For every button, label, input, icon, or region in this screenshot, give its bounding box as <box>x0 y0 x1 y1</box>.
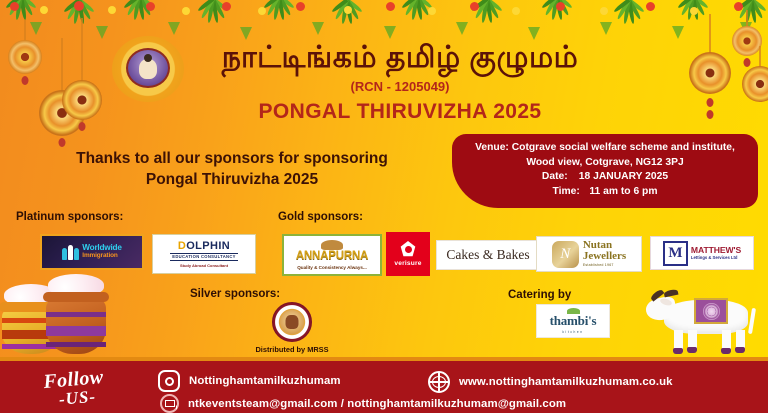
sponsor-logo-mrss: Distributed by MRSS <box>252 302 332 354</box>
annapurna-wordmark: ANNAPURNA <box>296 251 368 263</box>
mango-leaf-icon <box>196 0 230 27</box>
bunting-triangle <box>168 22 180 35</box>
gold-sponsors-label: Gold sponsors: <box>278 211 363 223</box>
mandala-icon <box>732 26 762 56</box>
sponsor-logo-verisure: verisure <box>386 232 430 276</box>
sponsor-logo-annapurna: ANNAPURNA Quality & Consistency Always..… <box>282 234 382 276</box>
bunting-dot <box>10 2 19 11</box>
thanks-line-1: Thanks to all our sponsors for sponsorin… <box>42 148 422 169</box>
bunting-dot <box>600 7 608 15</box>
cow-hoof <box>721 348 731 354</box>
sponsor-logo-thambis: thambi's kitchen <box>536 304 610 338</box>
instagram-row[interactable]: Nottinghamtamilkuzhumam <box>158 370 341 392</box>
website-url[interactable]: www.nottinghamtamilkuzhumam.co.uk <box>459 376 673 388</box>
bunting-dot <box>734 2 743 11</box>
annapurna-figure-icon <box>321 240 343 250</box>
cow-horn <box>664 289 679 298</box>
matthews-wordmark: MATTHEW'S <box>691 246 741 255</box>
mango-leaf-icon <box>262 0 296 24</box>
hanging-mandala-right-1 <box>684 14 736 134</box>
cow-leg <box>674 330 683 350</box>
verisure-wordmark: verisure <box>394 260 421 267</box>
nutan-established: Established 1967 <box>583 264 626 268</box>
thanks-message: Thanks to all our sponsors for sponsorin… <box>42 148 422 191</box>
wwi-line-2: Immigration <box>82 253 121 259</box>
instagram-icon[interactable] <box>158 370 180 392</box>
bunting-triangle <box>96 26 108 39</box>
sponsor-logo-dolphin-education-consultancy: DOLPHIN EDUCATION CONSULTANCY Study Abro… <box>152 234 256 274</box>
cow-hoof <box>735 347 745 353</box>
mango-leaf-icon <box>612 0 646 28</box>
catering-label: Catering by <box>508 289 571 301</box>
dolphin-subtitle: EDUCATION CONSULTANCY <box>170 253 238 261</box>
bunting-triangle <box>384 26 396 39</box>
cow-decorative-blanket <box>694 298 728 324</box>
bunting-dot <box>222 2 231 11</box>
bunting-dot <box>428 7 436 15</box>
sponsor-logo-nutan-jewellers: N Nutan Jewellers Established 1967 <box>536 236 642 272</box>
mango-leaf-icon <box>330 0 364 28</box>
footer-contact-bar: Follow -US- Nottinghamtamilkuzhumam www.… <box>0 357 768 413</box>
bunting-triangle <box>30 22 42 35</box>
time-label: Time: <box>553 185 587 200</box>
people-icon <box>62 245 79 260</box>
hanging-mandala-right-2 <box>726 10 768 100</box>
dolphin-wordmark: DOLPHIN <box>178 241 230 252</box>
website-row[interactable]: www.nottinghamtamilkuzhumam.co.uk <box>428 371 673 393</box>
bunting-triangle <box>528 27 540 40</box>
pongal-pots-decoration <box>2 280 110 358</box>
pongal-thiruvizha-poster: நாட்டிங்கம் தமிழ் குழுமம் (RCN - 1205049… <box>0 0 768 413</box>
bunting-dot <box>146 2 155 11</box>
bunting-dot <box>556 2 565 11</box>
cow-hoof <box>687 347 697 353</box>
nutan-line-2: Jewellers <box>583 251 626 262</box>
mandala-icon <box>689 52 731 94</box>
mango-leaf-icon <box>400 0 434 24</box>
bunting-dot <box>40 6 48 14</box>
matthews-tagline: Lettings & Services Ltd <box>691 256 741 260</box>
cow-tail <box>748 308 756 334</box>
bunting-dot <box>470 2 479 11</box>
mango-leaf-icon <box>540 0 574 24</box>
decorated-cow-illustration <box>642 286 764 358</box>
bunting-dot <box>512 7 520 15</box>
platinum-sponsors-label: Platinum sponsors: <box>16 211 123 223</box>
event-time-row: Time: 11 am to 6 pm <box>462 185 748 200</box>
thambis-subtitle: kitchen <box>562 330 583 334</box>
thanks-line-2: Pongal Thiruvizha 2025 <box>42 169 422 190</box>
sponsor-logo-cakes-and-bakes: Cakes & Bakes <box>436 240 540 270</box>
bunting-dot <box>108 6 116 14</box>
matthews-monogram-icon: M <box>663 241 688 266</box>
bunting-triangle <box>312 22 324 35</box>
bunting-triangle <box>740 22 752 35</box>
email-row[interactable]: ntkeventsteam@gmail.com / nottinghamtami… <box>160 394 566 413</box>
title-block: நாட்டிங்கம் தமிழ் குழுமம் (RCN - 1205049… <box>190 42 610 124</box>
annapurna-tagline: Quality & Consistency Always... <box>297 265 367 270</box>
mango-leaf-icon <box>470 0 504 27</box>
blanket-rosette-icon <box>703 303 720 320</box>
registration-number: (RCN - 1205049) <box>190 79 610 94</box>
page-title: நாட்டிங்கம் தமிழ் குழுமம் <box>190 42 610 74</box>
hanging-mandala-right-3 <box>738 46 768 146</box>
emblem-inner-disc <box>126 48 170 88</box>
globe-icon[interactable] <box>428 371 450 393</box>
follow-us-script: Follow -US- <box>43 362 164 410</box>
instagram-handle[interactable]: Nottinghamtamilkuzhumam <box>189 375 341 387</box>
nutan-monogram-icon: N <box>552 241 579 268</box>
venue-line-2: Wood view, Cotgrave, NG12 3PJ <box>462 156 748 171</box>
mandala-icon <box>39 90 85 136</box>
cow-leg <box>722 330 731 350</box>
bunting-dot <box>690 7 698 15</box>
date-label: Date: <box>542 170 576 185</box>
mango-leaf-icon <box>62 0 96 28</box>
email-icon[interactable] <box>160 394 179 413</box>
cow-hoof <box>673 348 683 354</box>
date-value: 18 JANUARY 2025 <box>579 171 668 182</box>
email-addresses[interactable]: ntkeventsteam@gmail.com / nottinghamtami… <box>188 398 566 410</box>
venue-line-1: Venue: Cotgrave social welfare scheme an… <box>462 141 748 156</box>
bunting-dot <box>258 7 266 15</box>
event-date-row: Date: 18 JANUARY 2025 <box>462 170 748 185</box>
mandala-icon <box>742 66 768 102</box>
wwi-line-1: Worldwide <box>82 244 121 252</box>
hanging-mandala-left-1 <box>2 20 48 100</box>
bunting-dot <box>74 1 84 11</box>
verisure-shield-icon <box>400 241 417 258</box>
bunting-triangle <box>456 22 468 35</box>
hanging-mandala-left-2 <box>30 38 94 148</box>
bunting-triangle <box>672 26 684 39</box>
mrss-caption: Distributed by MRSS <box>252 345 332 354</box>
sponsor-logo-matthews-lettings: M MATTHEW'S Lettings & Services Ltd <box>650 236 754 270</box>
mrss-seal-icon <box>272 302 312 342</box>
hanging-mandala-left-3 <box>52 18 112 150</box>
mango-leaf-icon <box>734 0 768 27</box>
cakes-wordmark: Cakes & Bakes <box>446 247 529 263</box>
mango-leaf-icon <box>4 0 38 24</box>
bunting-dot <box>182 7 190 15</box>
event-title: PONGAL THIRUVIZHA 2025 <box>190 100 610 124</box>
venue-details-card: Venue: Cotgrave social welfare scheme an… <box>452 134 758 208</box>
bunting-dot <box>344 6 352 14</box>
mango-leaf-icon <box>122 0 156 24</box>
bunting-triangle <box>240 27 252 40</box>
thambis-wordmark: thambi's <box>550 313 597 329</box>
bunting-dot <box>386 2 395 11</box>
time-value: 11 am to 6 pm <box>589 186 657 197</box>
silver-sponsors-label: Silver sponsors: <box>190 288 280 300</box>
bunting-dot <box>646 2 655 11</box>
mandala-icon <box>8 40 42 74</box>
bunting-triangle <box>600 22 612 35</box>
dolphin-tagline: Study Abroad Consultant <box>180 263 228 268</box>
mango-leaf-icon <box>676 0 710 24</box>
mandala-icon <box>62 80 102 120</box>
tamil-kuzhumam-emblem-icon <box>112 36 184 102</box>
emblem-figure <box>139 59 157 79</box>
bunting-dot <box>296 2 305 11</box>
pongal-pot-icon <box>46 284 106 354</box>
sponsor-logo-worldwide-immigration: Worldwide Immigration <box>40 234 144 270</box>
